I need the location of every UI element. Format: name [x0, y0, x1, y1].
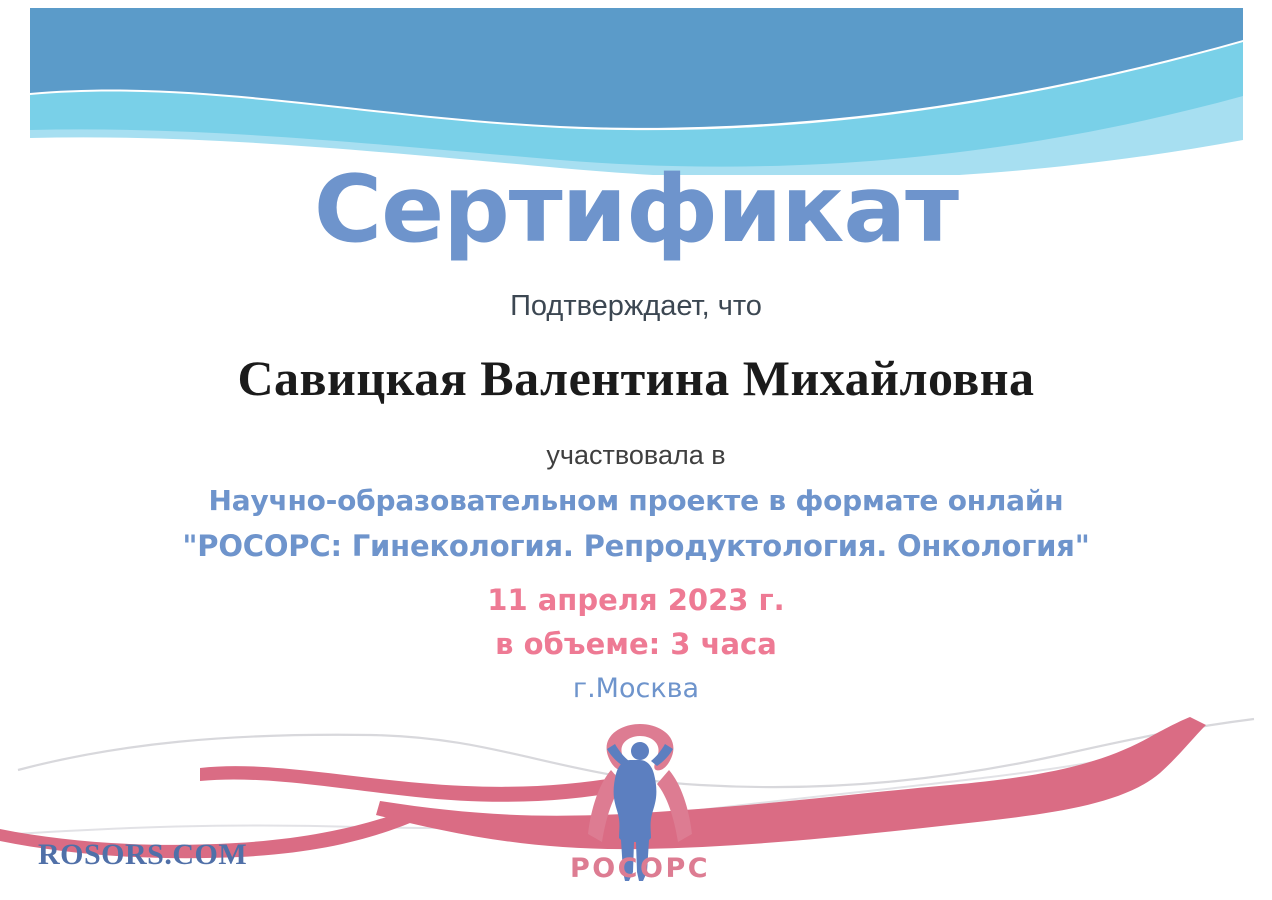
header-wave-cyan	[30, 42, 1243, 167]
participation-label: участвовала в	[0, 440, 1272, 471]
recipient-name: Савицкая Валентина Михайловна	[0, 349, 1272, 407]
project-title-line-2: "РОСОРС: Гинекология. Репродуктология. О…	[0, 529, 1272, 563]
footer-guide-curve-2	[0, 761, 1100, 835]
confirms-label: Подтверждает, что	[0, 290, 1272, 323]
header-wave-decoration	[0, 0, 1272, 175]
page-title: Сертификат	[0, 163, 1272, 256]
header-wave-blue	[30, 8, 1243, 128]
logo-wordmark: РОСОРС	[570, 853, 710, 884]
rosors-logo: РОСОРС	[555, 722, 725, 887]
event-volume: в объеме: 3 часа	[0, 627, 1272, 661]
site-url[interactable]: ROSORS.COM	[38, 838, 247, 872]
footer-ribbon-pink-main	[376, 717, 1206, 849]
certificate-page: Сертификат Подтверждает, что Савицкая Ва…	[0, 0, 1272, 900]
event-city: г.Москва	[0, 673, 1272, 704]
project-title-line-1: Научно-образовательном проекте в формате…	[0, 484, 1272, 517]
event-date: 11 апреля 2023 г.	[0, 583, 1272, 617]
